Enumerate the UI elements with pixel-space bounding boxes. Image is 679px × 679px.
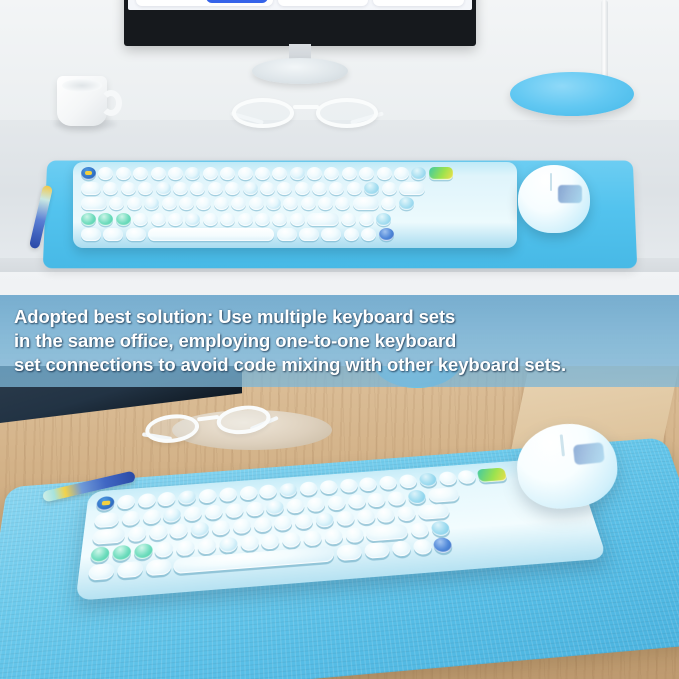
keyboard-row (79, 197, 511, 210)
key[interactable] (387, 491, 406, 506)
key[interactable] (336, 544, 362, 561)
key[interactable] (277, 228, 297, 241)
key[interactable] (377, 167, 392, 180)
key[interactable] (259, 484, 277, 499)
key[interactable] (381, 197, 396, 210)
key[interactable] (238, 213, 253, 226)
key[interactable] (307, 497, 326, 512)
key[interactable] (185, 167, 200, 180)
duck-face-key[interactable] (96, 496, 115, 511)
key[interactable] (121, 182, 136, 195)
keyboard-row (79, 228, 511, 241)
key[interactable] (254, 517, 272, 533)
key[interactable] (240, 535, 258, 551)
key[interactable] (457, 470, 477, 485)
key[interactable] (379, 228, 394, 241)
bottom-scene (0, 366, 679, 679)
key[interactable] (178, 490, 196, 505)
key[interactable] (341, 213, 356, 226)
key[interactable] (133, 543, 152, 560)
key[interactable] (286, 498, 304, 513)
key[interactable] (399, 182, 425, 195)
caption-text: Adopted best solution: Use multiple keyb… (14, 305, 566, 377)
key[interactable] (307, 213, 339, 226)
monitor: 0.700 ETH 0.609898 BTC ▾ Rate 1 BTC = 0.… (124, 0, 476, 46)
key[interactable] (376, 508, 396, 524)
key[interactable] (184, 506, 202, 522)
key[interactable] (315, 512, 334, 528)
glasses (232, 96, 384, 132)
key[interactable] (137, 493, 156, 508)
key[interactable] (103, 182, 118, 195)
key[interactable] (407, 489, 427, 504)
key[interactable] (344, 228, 359, 241)
mouse-top[interactable] (518, 165, 590, 233)
key[interactable] (138, 182, 153, 195)
key[interactable] (266, 197, 281, 210)
key[interactable] (214, 197, 229, 210)
key[interactable] (356, 509, 375, 525)
key[interactable] (219, 536, 237, 552)
key[interactable] (219, 487, 236, 502)
key[interactable] (144, 197, 159, 210)
key[interactable] (342, 167, 357, 180)
key[interactable] (149, 525, 168, 541)
key[interactable] (116, 213, 131, 226)
key[interactable] (94, 512, 120, 528)
key[interactable] (382, 182, 397, 195)
key[interactable] (321, 228, 341, 241)
key[interactable] (283, 197, 298, 210)
key[interactable] (290, 213, 305, 226)
key[interactable] (176, 540, 195, 557)
key[interactable] (411, 167, 426, 180)
key[interactable] (112, 544, 132, 561)
key[interactable] (225, 503, 243, 518)
key[interactable] (324, 528, 343, 544)
key[interactable] (98, 167, 113, 180)
key[interactable] (133, 167, 148, 180)
key[interactable] (117, 561, 144, 579)
key[interactable] (410, 522, 430, 538)
key[interactable] (359, 477, 378, 492)
key[interactable] (335, 197, 350, 210)
key[interactable] (339, 478, 358, 493)
key[interactable] (121, 510, 140, 526)
key[interactable] (220, 213, 235, 226)
key[interactable] (295, 182, 310, 195)
duck-face-key[interactable] (81, 167, 96, 180)
key[interactable] (299, 228, 319, 241)
key[interactable] (376, 213, 391, 226)
key[interactable] (205, 504, 223, 519)
key[interactable] (327, 495, 346, 510)
key[interactable] (433, 537, 454, 553)
key[interactable] (255, 213, 270, 226)
glasses-lens-right (316, 98, 378, 128)
key[interactable] (220, 167, 235, 180)
key[interactable] (279, 483, 297, 498)
key[interactable] (417, 504, 450, 520)
key[interactable] (336, 511, 355, 527)
key[interactable] (81, 197, 107, 210)
key[interactable] (212, 520, 230, 536)
key[interactable] (233, 518, 251, 534)
brand-logo-key (429, 167, 453, 180)
key[interactable] (88, 563, 115, 581)
key[interactable] (198, 538, 216, 554)
key[interactable] (438, 471, 458, 486)
key[interactable] (190, 182, 205, 195)
key[interactable] (103, 228, 123, 241)
key[interactable] (347, 182, 362, 195)
key[interactable] (272, 167, 287, 180)
key[interactable] (430, 520, 451, 536)
key[interactable] (173, 182, 188, 195)
key[interactable] (185, 213, 200, 226)
glasses-lens-left (232, 98, 294, 128)
key[interactable] (239, 486, 257, 501)
key[interactable] (231, 197, 246, 210)
key[interactable] (319, 480, 337, 495)
key[interactable] (126, 228, 146, 241)
key[interactable] (312, 182, 327, 195)
key[interactable] (359, 213, 374, 226)
key[interactable] (168, 167, 183, 180)
mug-handle (100, 90, 122, 116)
key[interactable] (92, 528, 126, 545)
keyboard-row (79, 213, 511, 226)
mouse-brand-mark (573, 442, 605, 465)
key[interactable] (399, 197, 414, 210)
key[interactable] (277, 182, 292, 195)
keyboard-row (79, 167, 511, 180)
key[interactable] (347, 494, 366, 509)
key[interactable] (324, 167, 339, 180)
key[interactable] (127, 526, 146, 542)
key[interactable] (81, 228, 101, 241)
key[interactable] (98, 213, 113, 226)
key[interactable] (272, 213, 287, 226)
key[interactable] (365, 523, 409, 541)
key[interactable] (301, 197, 316, 210)
key[interactable] (391, 541, 411, 558)
key[interactable] (394, 167, 409, 180)
key[interactable] (81, 182, 101, 195)
key[interactable] (266, 500, 284, 515)
key[interactable] (158, 491, 176, 506)
key[interactable] (170, 523, 189, 539)
key[interactable] (364, 542, 391, 559)
keyboard-row (79, 182, 511, 195)
exchange-button[interactable]: Exchange → (206, 0, 268, 3)
key[interactable] (142, 509, 161, 525)
key[interactable] (361, 228, 376, 241)
key[interactable] (109, 197, 124, 210)
monitor-base (252, 58, 348, 84)
keyboard-top[interactable] (73, 162, 517, 248)
dashboard: 0.700 ETH 0.609898 BTC ▾ Rate 1 BTC = 0.… (128, 0, 472, 10)
product-image: 0.700 ETH 0.609898 BTC ▾ Rate 1 BTC = 0.… (0, 0, 679, 679)
key[interactable] (397, 506, 417, 522)
key[interactable] (243, 182, 258, 195)
monitor-screen: 0.700 ETH 0.609898 BTC ▾ Rate 1 BTC = 0.… (128, 0, 472, 10)
key[interactable] (162, 197, 177, 210)
glasses-lens-right (215, 403, 272, 437)
key[interactable] (295, 514, 314, 530)
key[interactable] (255, 167, 270, 180)
key[interactable] (412, 539, 433, 555)
key[interactable] (127, 197, 142, 210)
exchange-card[interactable]: 0.700 ETH 0.609898 BTC ▾ Rate 1 BTC = 0.… (136, 0, 273, 6)
fraud-score-card[interactable]: Fraud Score 6.9 last 30 days (278, 0, 367, 6)
key[interactable] (427, 487, 460, 503)
key[interactable] (203, 167, 218, 180)
key[interactable] (318, 197, 333, 210)
key[interactable] (307, 167, 322, 180)
key[interactable] (290, 167, 305, 180)
key[interactable] (238, 167, 253, 180)
shopping-card[interactable]: Shopping Groceries -$17.00 See All (373, 0, 464, 6)
key[interactable] (90, 546, 110, 563)
key[interactable] (191, 522, 209, 538)
key[interactable] (151, 213, 166, 226)
key[interactable] (344, 527, 364, 543)
key[interactable] (151, 167, 166, 180)
key[interactable] (155, 541, 174, 558)
key[interactable] (282, 532, 301, 548)
key[interactable] (145, 559, 171, 577)
key[interactable] (329, 182, 344, 195)
key[interactable] (156, 182, 171, 195)
key[interactable] (199, 489, 217, 504)
key[interactable] (379, 475, 398, 490)
key[interactable] (196, 197, 211, 210)
key[interactable] (418, 473, 437, 488)
key[interactable] (303, 530, 322, 546)
key[interactable] (261, 533, 280, 549)
space-key[interactable] (148, 228, 274, 241)
key[interactable] (133, 213, 148, 226)
key[interactable] (398, 474, 417, 489)
key[interactable] (203, 213, 218, 226)
key[interactable] (353, 197, 379, 210)
mouse-brand-mark (558, 185, 582, 203)
glasses-bridge (293, 105, 319, 109)
key[interactable] (225, 182, 240, 195)
key[interactable] (299, 481, 317, 496)
key[interactable] (168, 213, 183, 226)
key[interactable] (116, 167, 131, 180)
key[interactable] (179, 197, 194, 210)
key[interactable] (274, 515, 293, 531)
key[interactable] (260, 182, 275, 195)
brand-logo-key (477, 468, 508, 483)
key[interactable] (359, 167, 374, 180)
lamp-base (510, 72, 634, 116)
key[interactable] (163, 507, 181, 523)
caption-band: Adopted best solution: Use multiple keyb… (0, 295, 679, 387)
key[interactable] (81, 213, 96, 226)
key[interactable] (364, 182, 379, 195)
key[interactable] (208, 182, 223, 195)
key[interactable] (246, 501, 264, 516)
key[interactable] (367, 492, 386, 507)
key[interactable] (249, 197, 264, 210)
glasses-lens-left (144, 411, 201, 445)
key[interactable] (117, 494, 136, 509)
